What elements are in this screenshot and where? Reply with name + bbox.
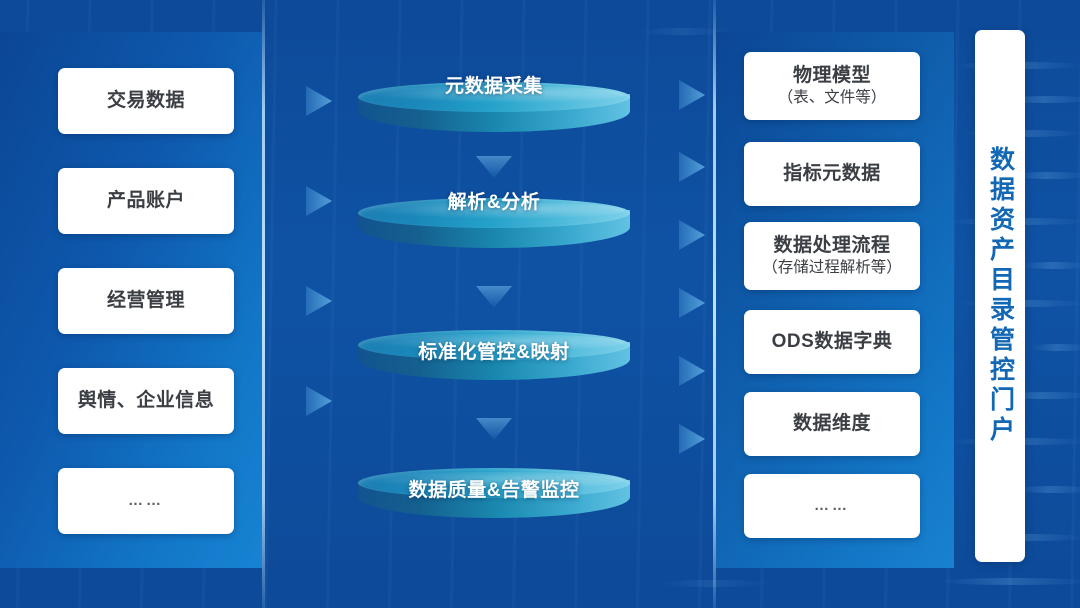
process-disc-1-label: 元数据采集 (358, 71, 630, 98)
source-card-1-label: 交易数据 (107, 89, 185, 112)
source-card-3-label: 经营管理 (107, 289, 185, 312)
source-card-more-label: …… (128, 492, 164, 510)
process-disc-4-label: 数据质量&告警监控 (358, 475, 630, 502)
asset-card-4-label: ODS数据字典 (772, 330, 893, 353)
process-disc-3-label: 标准化管控&映射 (358, 337, 630, 364)
source-card-4[interactable]: 舆情、企业信息 (58, 368, 234, 434)
asset-card-3[interactable]: 数据处理流程 （存储过程解析等） (744, 222, 920, 290)
source-card-4-label: 舆情、企业信息 (78, 389, 215, 412)
source-card-3[interactable]: 经营管理 (58, 268, 234, 334)
source-card-2[interactable]: 产品账户 (58, 168, 234, 234)
source-card-more[interactable]: …… (58, 468, 234, 534)
column-divider-left (262, 0, 265, 608)
portal-bar[interactable]: 数据资产目录管控门户 (975, 30, 1025, 562)
asset-card-1[interactable]: 物理模型 （表、文件等） (744, 52, 920, 120)
column-divider-right (713, 0, 716, 608)
asset-card-5[interactable]: 数据维度 (744, 392, 920, 456)
diagram-canvas: 交易数据 产品账户 经营管理 舆情、企业信息 …… 元数据采集 解析&分析 标准… (0, 0, 1080, 608)
asset-card-1-sublabel: （表、文件等） (778, 89, 887, 108)
asset-card-2[interactable]: 指标元数据 (744, 142, 920, 206)
process-disc-2-label: 解析&分析 (358, 187, 630, 214)
asset-card-more-label: …… (814, 497, 850, 515)
asset-card-2-label: 指标元数据 (783, 162, 881, 185)
asset-card-more[interactable]: …… (744, 474, 920, 538)
asset-card-3-sublabel: （存储过程解析等） (762, 259, 902, 278)
source-card-1[interactable]: 交易数据 (58, 68, 234, 134)
asset-card-3-label: 数据处理流程 (773, 234, 890, 257)
asset-card-1-label: 物理模型 (793, 64, 871, 87)
portal-bar-label: 数据资产目录管控门户 (988, 146, 1013, 446)
source-card-2-label: 产品账户 (107, 189, 185, 212)
asset-card-4[interactable]: ODS数据字典 (744, 310, 920, 374)
asset-card-5-label: 数据维度 (793, 412, 871, 435)
